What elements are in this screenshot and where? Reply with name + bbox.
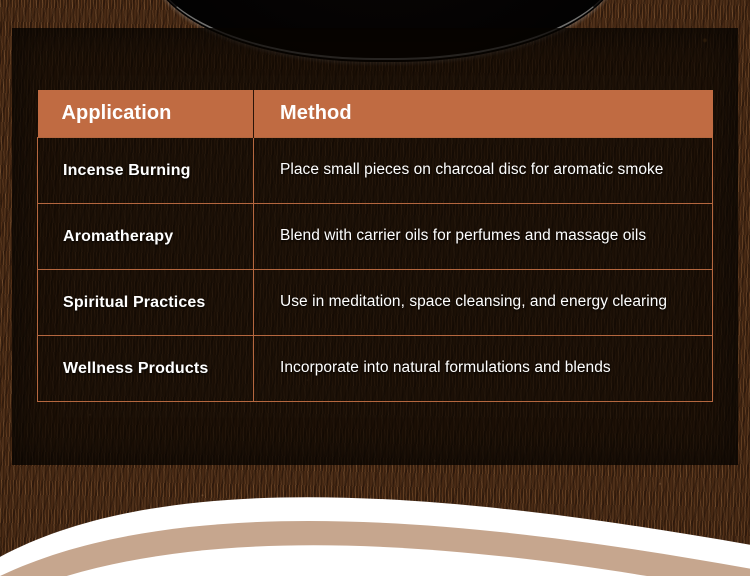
table-row: Spiritual Practices Use in meditation, s… — [38, 270, 713, 336]
table-header-row: Application Method — [38, 90, 713, 138]
table-header: Application Method — [38, 90, 713, 138]
applications-table-container: Application Method Incense Burning Place… — [37, 90, 713, 402]
table-body: Incense Burning Place small pieces on ch… — [38, 138, 713, 402]
cell-application: Spiritual Practices — [38, 270, 254, 336]
screenshot-stage: Application Method Incense Burning Place… — [0, 0, 750, 576]
table-row: Wellness Products Incorporate into natur… — [38, 336, 713, 402]
table-row: Incense Burning Place small pieces on ch… — [38, 138, 713, 204]
cell-application: Incense Burning — [38, 138, 254, 204]
column-header-application: Application — [38, 90, 254, 138]
cell-method: Use in meditation, space cleansing, and … — [254, 270, 713, 336]
cell-method: Incorporate into natural formulations an… — [254, 336, 713, 402]
cell-method: Blend with carrier oils for perfumes and… — [254, 204, 713, 270]
cell-application: Aromatherapy — [38, 204, 254, 270]
applications-table: Application Method Incense Burning Place… — [37, 90, 713, 402]
table-row: Aromatherapy Blend with carrier oils for… — [38, 204, 713, 270]
column-header-method: Method — [254, 90, 713, 138]
cell-method: Place small pieces on charcoal disc for … — [254, 138, 713, 204]
cell-application: Wellness Products — [38, 336, 254, 402]
